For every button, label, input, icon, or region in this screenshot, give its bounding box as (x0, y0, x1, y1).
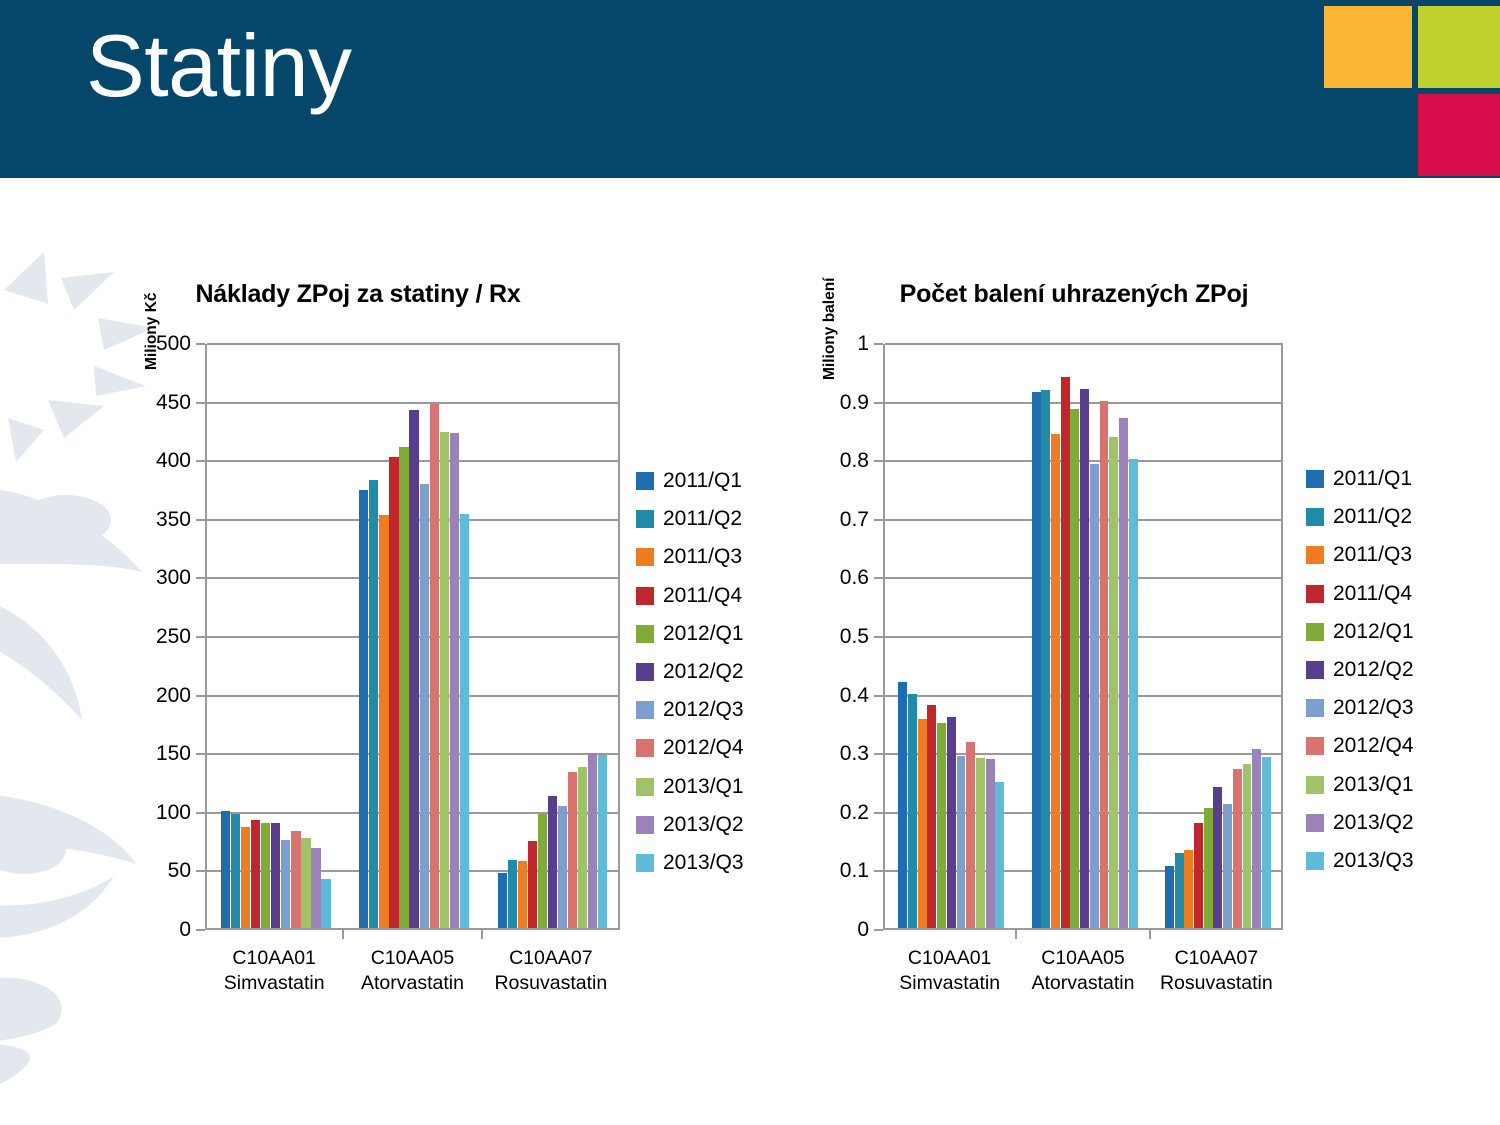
bar-2011-Q4-cat3 (528, 841, 537, 928)
bar-2013-Q1-cat1 (301, 838, 310, 928)
category-name: Simvastatin (883, 971, 1016, 996)
category-separator (481, 930, 483, 939)
bar-2011-Q4-cat2 (1061, 377, 1070, 928)
bar-2013-Q2-cat2 (1119, 418, 1128, 928)
bar-2012-Q2-cat2 (1080, 389, 1089, 928)
bar-2012-Q4-cat2 (430, 404, 439, 928)
bar-2012-Q1-cat1 (937, 723, 946, 928)
x-axis-category-label: C10AA05Atorvastatin (343, 946, 481, 996)
y-axis-title-baleni: Miliony balení (821, 278, 839, 380)
y-axis-tick-mark (874, 753, 883, 755)
legend-item-2011-Q4[interactable]: 2011/Q4 (1306, 575, 1414, 613)
y-axis-tick-label: 0.8 (840, 449, 869, 473)
bar-2013-Q3-cat3 (1262, 757, 1271, 928)
y-axis-tick-label: 500 (156, 332, 191, 356)
y-axis-tick-label: 0.1 (840, 859, 869, 883)
bar-2011-Q3-cat3 (518, 861, 527, 928)
legend-item-label: 2011/Q1 (1333, 467, 1412, 491)
bar-2013-Q2-cat1 (311, 848, 320, 928)
legend-swatch-icon (636, 472, 654, 490)
legend-swatch-icon (1306, 546, 1324, 564)
y-axis-tick-mark (196, 519, 205, 521)
legend-item-label: 2013/Q1 (663, 775, 744, 799)
y-axis-tick-mark (196, 577, 205, 579)
category-name: Rosuvastatin (482, 971, 620, 996)
gridline (885, 343, 1283, 345)
legend-item-label: 2013/Q2 (663, 813, 744, 837)
bar-2013-Q1-cat2 (440, 432, 449, 928)
bar-2012-Q3-cat3 (558, 806, 567, 928)
bar-2011-Q4-cat1 (251, 820, 260, 928)
category-name: Simvastatin (205, 971, 343, 996)
legend-swatch-icon (636, 625, 654, 643)
bar-2012-Q4-cat3 (1233, 769, 1242, 928)
legend-item-2013-Q2[interactable]: 2013/Q2 (1306, 804, 1414, 842)
y-axis-tick-label: 0.2 (840, 801, 869, 825)
y-axis-tick-mark (874, 577, 883, 579)
legend-item-2013-Q3[interactable]: 2013/Q3 (1306, 842, 1414, 880)
bar-2012-Q2-cat3 (1213, 787, 1222, 928)
bar-2011-Q3-cat1 (241, 827, 250, 928)
bar-2013-Q3-cat2 (460, 514, 469, 928)
y-axis-tick-label: 100 (156, 801, 191, 825)
legend-item-2012-Q1[interactable]: 2012/Q1 (1306, 613, 1414, 651)
legend-item-2011-Q2[interactable]: 2011/Q2 (1306, 498, 1414, 536)
y-axis-tick-mark (196, 753, 205, 755)
y-axis-tick-mark (196, 343, 205, 345)
bar-2013-Q3-cat1 (995, 782, 1004, 929)
y-axis-tick-label: 1 (857, 332, 869, 356)
y-axis-tick-label: 450 (156, 391, 191, 415)
legend-item-2011-Q2[interactable]: 2011/Q2 (636, 500, 744, 538)
bar-2012-Q3-cat2 (420, 484, 429, 928)
legend-swatch-icon (1306, 470, 1324, 488)
bar-2012-Q1-cat3 (538, 814, 547, 928)
bar-2012-Q2-cat3 (548, 796, 557, 928)
header-square-navy (1324, 94, 1412, 176)
bar-2011-Q3-cat2 (379, 515, 388, 928)
y-axis-tick-label: 350 (156, 508, 191, 532)
bar-2011-Q4-cat1 (927, 705, 936, 928)
category-separator (342, 930, 344, 939)
category-code: C10AA05 (1016, 946, 1149, 971)
legend-item-2011-Q4[interactable]: 2011/Q4 (636, 577, 744, 615)
y-axis-tick-mark (196, 695, 205, 697)
bar-2012-Q1-cat3 (1204, 808, 1213, 928)
bar-2011-Q4-cat3 (1194, 823, 1203, 928)
bar-2011-Q3-cat1 (918, 719, 927, 928)
bar-2012-Q3-cat3 (1223, 804, 1232, 928)
legend-item-2012-Q4[interactable]: 2012/Q4 (636, 729, 744, 767)
legend-item-label: 2012/Q3 (663, 698, 744, 722)
legend-swatch-icon (1306, 623, 1324, 641)
legend-item-2011-Q1[interactable]: 2011/Q1 (636, 462, 744, 500)
legend-item-2012-Q3[interactable]: 2012/Q3 (636, 691, 744, 729)
bar-2012-Q3-cat1 (281, 840, 290, 928)
bar-2013-Q2-cat1 (986, 759, 995, 928)
y-axis-tick-mark (874, 636, 883, 638)
legend-swatch-icon (636, 778, 654, 796)
y-axis-tick-mark (874, 929, 883, 931)
bar-2012-Q3-cat1 (957, 756, 966, 928)
legend-swatch-icon (636, 510, 654, 528)
y-axis-tick-mark (874, 870, 883, 872)
y-axis-tick-mark (874, 695, 883, 697)
y-axis-tick-label: 0.9 (840, 391, 869, 415)
y-axis-tick-label: 0.5 (840, 625, 869, 649)
x-axis-category-label: C10AA07Rosuvastatin (482, 946, 620, 996)
category-code: C10AA01 (883, 946, 1016, 971)
chart-title-baleni: Počet balení uhrazených ZPoj (774, 280, 1374, 309)
y-axis-tick-mark (196, 636, 205, 638)
legend-item-label: 2012/Q3 (1333, 696, 1414, 720)
y-axis-tick-mark (196, 402, 205, 404)
legend-swatch-icon (1306, 508, 1324, 526)
category-code: C10AA01 (205, 946, 343, 971)
bar-2013-Q1-cat3 (578, 767, 587, 928)
bar-2013-Q2-cat2 (450, 433, 459, 928)
bar-2012-Q1-cat2 (1070, 409, 1079, 928)
plot-area-baleni (883, 344, 1283, 930)
legend-swatch-icon (1306, 699, 1324, 717)
legend-item-2012-Q2[interactable]: 2012/Q2 (636, 653, 744, 691)
legend-item-label: 2011/Q1 (663, 469, 742, 493)
bar-2012-Q1-cat2 (399, 447, 408, 928)
y-axis-tick-mark (874, 402, 883, 404)
x-axis-category-label: C10AA01Simvastatin (883, 946, 1016, 996)
legend-item-2012-Q3[interactable]: 2012/Q3 (1306, 689, 1414, 727)
bar-2013-Q1-cat3 (1243, 764, 1252, 928)
page-title: Statiny (86, 20, 352, 112)
bar-2012-Q4-cat1 (966, 742, 975, 928)
category-separator (1149, 930, 1151, 939)
category-name: Atorvastatin (343, 971, 481, 996)
legend-swatch-icon (636, 854, 654, 872)
legend-item-label: 2011/Q3 (1333, 543, 1412, 567)
y-axis-tick-label: 300 (156, 566, 191, 590)
bar-2012-Q2-cat2 (409, 410, 418, 928)
category-name: Rosuvastatin (1150, 971, 1283, 996)
legend-swatch-icon (636, 816, 654, 834)
legend-swatch-icon (1306, 737, 1324, 755)
y-axis-tick-label: 250 (156, 625, 191, 649)
y-axis-tick-mark (874, 812, 883, 814)
header-square-pink (1418, 94, 1500, 176)
legend-item-2011-Q1[interactable]: 2011/Q1 (1306, 460, 1414, 498)
legend-item-label: 2012/Q2 (663, 660, 744, 684)
bar-2011-Q2-cat3 (508, 860, 517, 928)
legend-item-label: 2012/Q1 (1333, 620, 1414, 644)
legend-item-2013-Q2[interactable]: 2013/Q2 (636, 806, 744, 844)
legend-item-label: 2013/Q3 (1333, 849, 1414, 873)
bar-2012-Q3-cat2 (1090, 464, 1099, 928)
bar-2013-Q2-cat3 (1252, 749, 1261, 928)
category-code: C10AA07 (482, 946, 620, 971)
legend-item-2013-Q3[interactable]: 2013/Q3 (636, 844, 744, 882)
y-axis-tick-label: 400 (156, 449, 191, 473)
y-axis-tick-mark (874, 519, 883, 521)
gridline (207, 343, 620, 345)
legend-swatch-icon (1306, 814, 1324, 832)
legend-swatch-icon (636, 739, 654, 757)
y-axis-tick-label: 0.7 (840, 508, 869, 532)
bar-2013-Q1-cat1 (976, 758, 985, 928)
bar-2011-Q2-cat3 (1175, 853, 1184, 928)
slide-header: Statiny (0, 0, 1500, 178)
bar-2012-Q2-cat1 (947, 717, 956, 928)
legend-item-label: 2011/Q4 (1333, 582, 1412, 606)
bar-2011-Q3-cat2 (1051, 434, 1060, 928)
legend-item-label: 2011/Q2 (1333, 505, 1412, 529)
bar-2011-Q2-cat1 (231, 814, 240, 928)
legend-item-2011-Q3[interactable]: 2011/Q3 (636, 538, 744, 576)
header-square-green (1418, 6, 1500, 88)
bar-2011-Q1-cat3 (498, 873, 507, 928)
legend-swatch-icon (636, 701, 654, 719)
legend-item-label: 2012/Q1 (663, 622, 744, 646)
bar-2012-Q4-cat1 (291, 831, 300, 928)
y-axis-tick-label: 0.3 (840, 742, 869, 766)
bar-2011-Q2-cat2 (369, 480, 378, 928)
y-axis-tick-label: 50 (168, 859, 191, 883)
category-code: C10AA05 (343, 946, 481, 971)
bar-2011-Q1-cat2 (1032, 392, 1041, 928)
legend-item-label: 2013/Q2 (1333, 811, 1414, 835)
legend-swatch-icon (636, 587, 654, 605)
legend-item-label: 2012/Q4 (1333, 734, 1414, 758)
bar-2013-Q2-cat3 (588, 753, 597, 928)
legend-naklady: 2011/Q12011/Q22011/Q32011/Q42012/Q12012/… (636, 462, 744, 882)
y-axis-tick-mark (196, 812, 205, 814)
bar-2011-Q2-cat2 (1041, 390, 1050, 928)
legend-swatch-icon (1306, 776, 1324, 794)
y-axis-tick-label: 0.6 (840, 566, 869, 590)
legend-item-label: 2013/Q3 (663, 851, 744, 875)
bar-2012-Q4-cat3 (568, 772, 577, 928)
y-axis-tick-label: 150 (156, 742, 191, 766)
bar-2013-Q1-cat2 (1109, 437, 1118, 928)
bar-2011-Q1-cat3 (1165, 866, 1174, 928)
legend-item-label: 2011/Q2 (663, 507, 742, 531)
legend-swatch-icon (1306, 661, 1324, 679)
legend-item-2012-Q4[interactable]: 2012/Q4 (1306, 727, 1414, 765)
bar-2011-Q1-cat1 (221, 811, 230, 928)
bar-2012-Q4-cat2 (1100, 401, 1109, 928)
category-name: Atorvastatin (1016, 971, 1149, 996)
legend-item-2013-Q1[interactable]: 2013/Q1 (636, 768, 744, 806)
bar-2013-Q3-cat1 (321, 879, 330, 928)
bar-2013-Q3-cat2 (1129, 459, 1138, 928)
header-square-orange (1324, 6, 1412, 88)
bar-2012-Q2-cat1 (271, 823, 280, 928)
bar-2012-Q1-cat1 (261, 823, 270, 928)
bar-2011-Q1-cat2 (359, 490, 368, 928)
legend-item-2012-Q2[interactable]: 2012/Q2 (1306, 651, 1414, 689)
y-axis-tick-mark (874, 460, 883, 462)
y-axis-tick-label: 0 (179, 918, 191, 942)
plot-area-naklady (205, 344, 620, 930)
x-axis-category-label: C10AA05Atorvastatin (1016, 946, 1149, 996)
legend-item-label: 2012/Q2 (1333, 658, 1414, 682)
legend-item-2011-Q3[interactable]: 2011/Q3 (1306, 536, 1414, 574)
x-axis-category-label: C10AA01Simvastatin (205, 946, 343, 996)
legend-swatch-icon (1306, 585, 1324, 603)
legend-baleni: 2011/Q12011/Q22011/Q32011/Q42012/Q12012/… (1306, 460, 1414, 880)
y-axis-tick-mark (196, 460, 205, 462)
y-axis-tick-label: 0 (857, 918, 869, 942)
x-axis-category-label: C10AA07Rosuvastatin (1150, 946, 1283, 996)
bar-2013-Q3-cat3 (598, 755, 607, 928)
legend-item-2012-Q1[interactable]: 2012/Q1 (636, 615, 744, 653)
legend-item-label: 2011/Q3 (663, 545, 742, 569)
bar-2011-Q2-cat1 (908, 694, 917, 928)
legend-item-label: 2012/Q4 (663, 736, 744, 760)
bar-2011-Q3-cat3 (1184, 850, 1193, 928)
bar-2011-Q4-cat2 (389, 457, 398, 928)
y-axis-tick-mark (196, 929, 205, 931)
bar-2011-Q1-cat1 (898, 682, 907, 928)
legend-swatch-icon (636, 548, 654, 566)
gridline (207, 402, 620, 404)
legend-item-label: 2011/Q4 (663, 584, 742, 608)
category-separator (1015, 930, 1017, 939)
y-axis-tick-label: 0.4 (840, 684, 869, 708)
y-axis-tick-mark (196, 870, 205, 872)
legend-item-label: 2013/Q1 (1333, 773, 1414, 797)
legend-item-2013-Q1[interactable]: 2013/Q1 (1306, 766, 1414, 804)
legend-swatch-icon (636, 663, 654, 681)
legend-swatch-icon (1306, 852, 1324, 870)
y-axis-tick-label: 200 (156, 684, 191, 708)
y-axis-tick-mark (874, 343, 883, 345)
category-code: C10AA07 (1150, 946, 1283, 971)
